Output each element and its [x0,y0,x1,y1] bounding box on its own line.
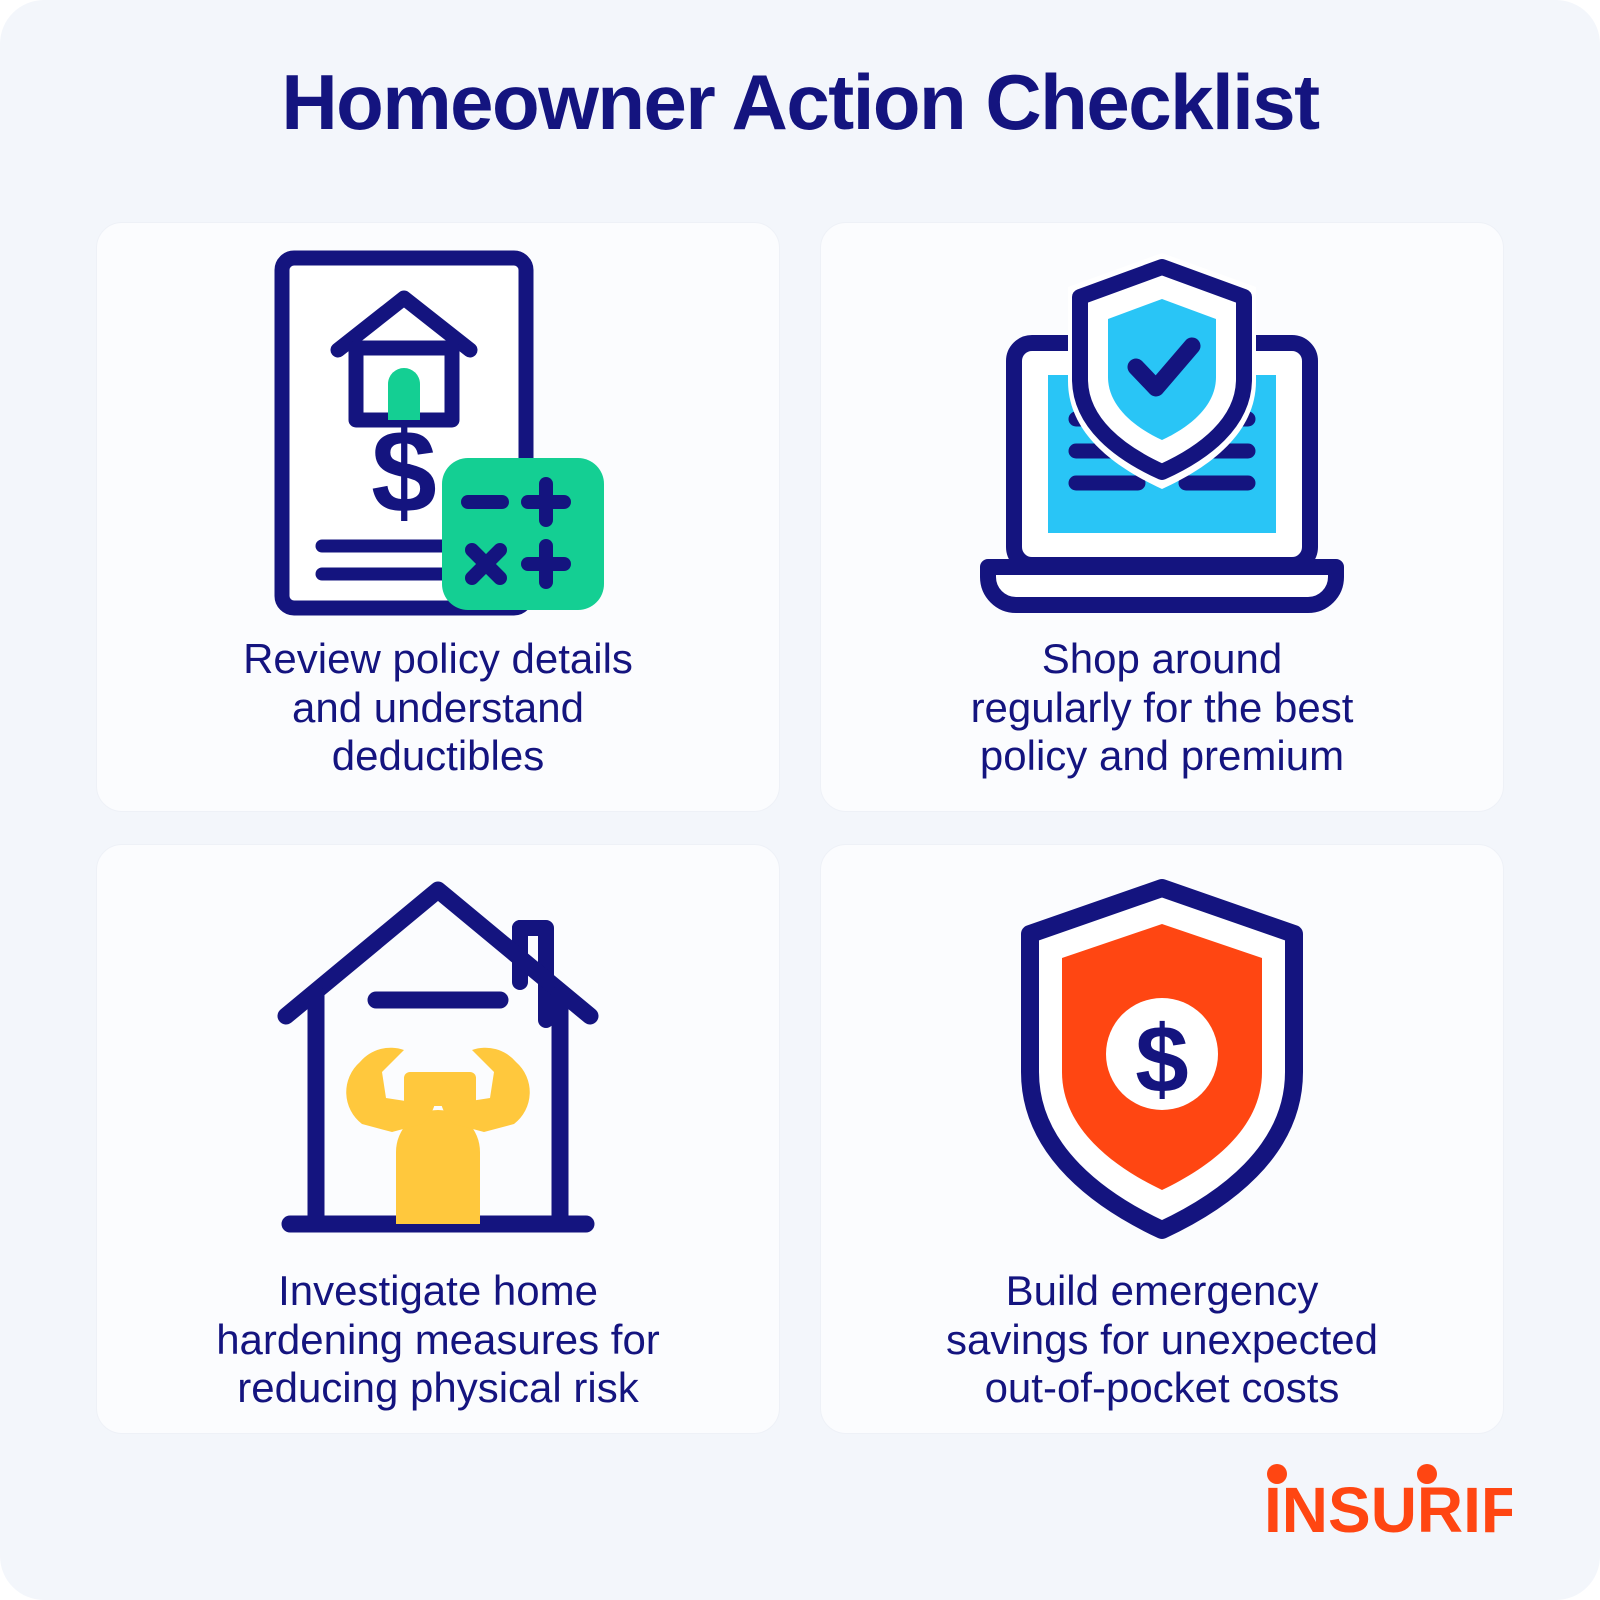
checklist-card-label: Build emergency savings for unexpected o… [946,1267,1378,1413]
checklist-card-shop-around: Shop around regularly for the best polic… [820,222,1504,812]
page-title: Homeowner Action Checklist [0,0,1600,144]
checklist-card-review-policy: $ [96,222,780,812]
checklist-grid: $ [96,222,1504,1434]
checklist-card-label: Review policy details and understand ded… [243,635,633,781]
document-calculator-icon: $ [258,239,618,629]
checklist-card-home-hardening: Investigate home hardening measures for … [96,844,780,1434]
checklist-card-label: Investigate home hardening measures for … [216,1267,660,1413]
shield-dollar-icon: $ [1012,861,1312,1261]
svg-text:$: $ [1135,1006,1188,1113]
laptop-shield-icon [972,239,1352,629]
infographic-canvas: Homeowner Action Checklist $ [0,0,1600,1600]
svg-text:$: $ [371,406,437,538]
insurify-logo[interactable]: INSURIFY INSURIFY [1264,1460,1512,1538]
svg-text:INSURIFY: INSURIFY [1264,1474,1512,1538]
checklist-card-label: Shop around regularly for the best polic… [971,635,1354,781]
house-wrench-icon [268,861,608,1261]
checklist-card-emergency-savings: $ Build emergency savings for unexpected… [820,844,1504,1434]
